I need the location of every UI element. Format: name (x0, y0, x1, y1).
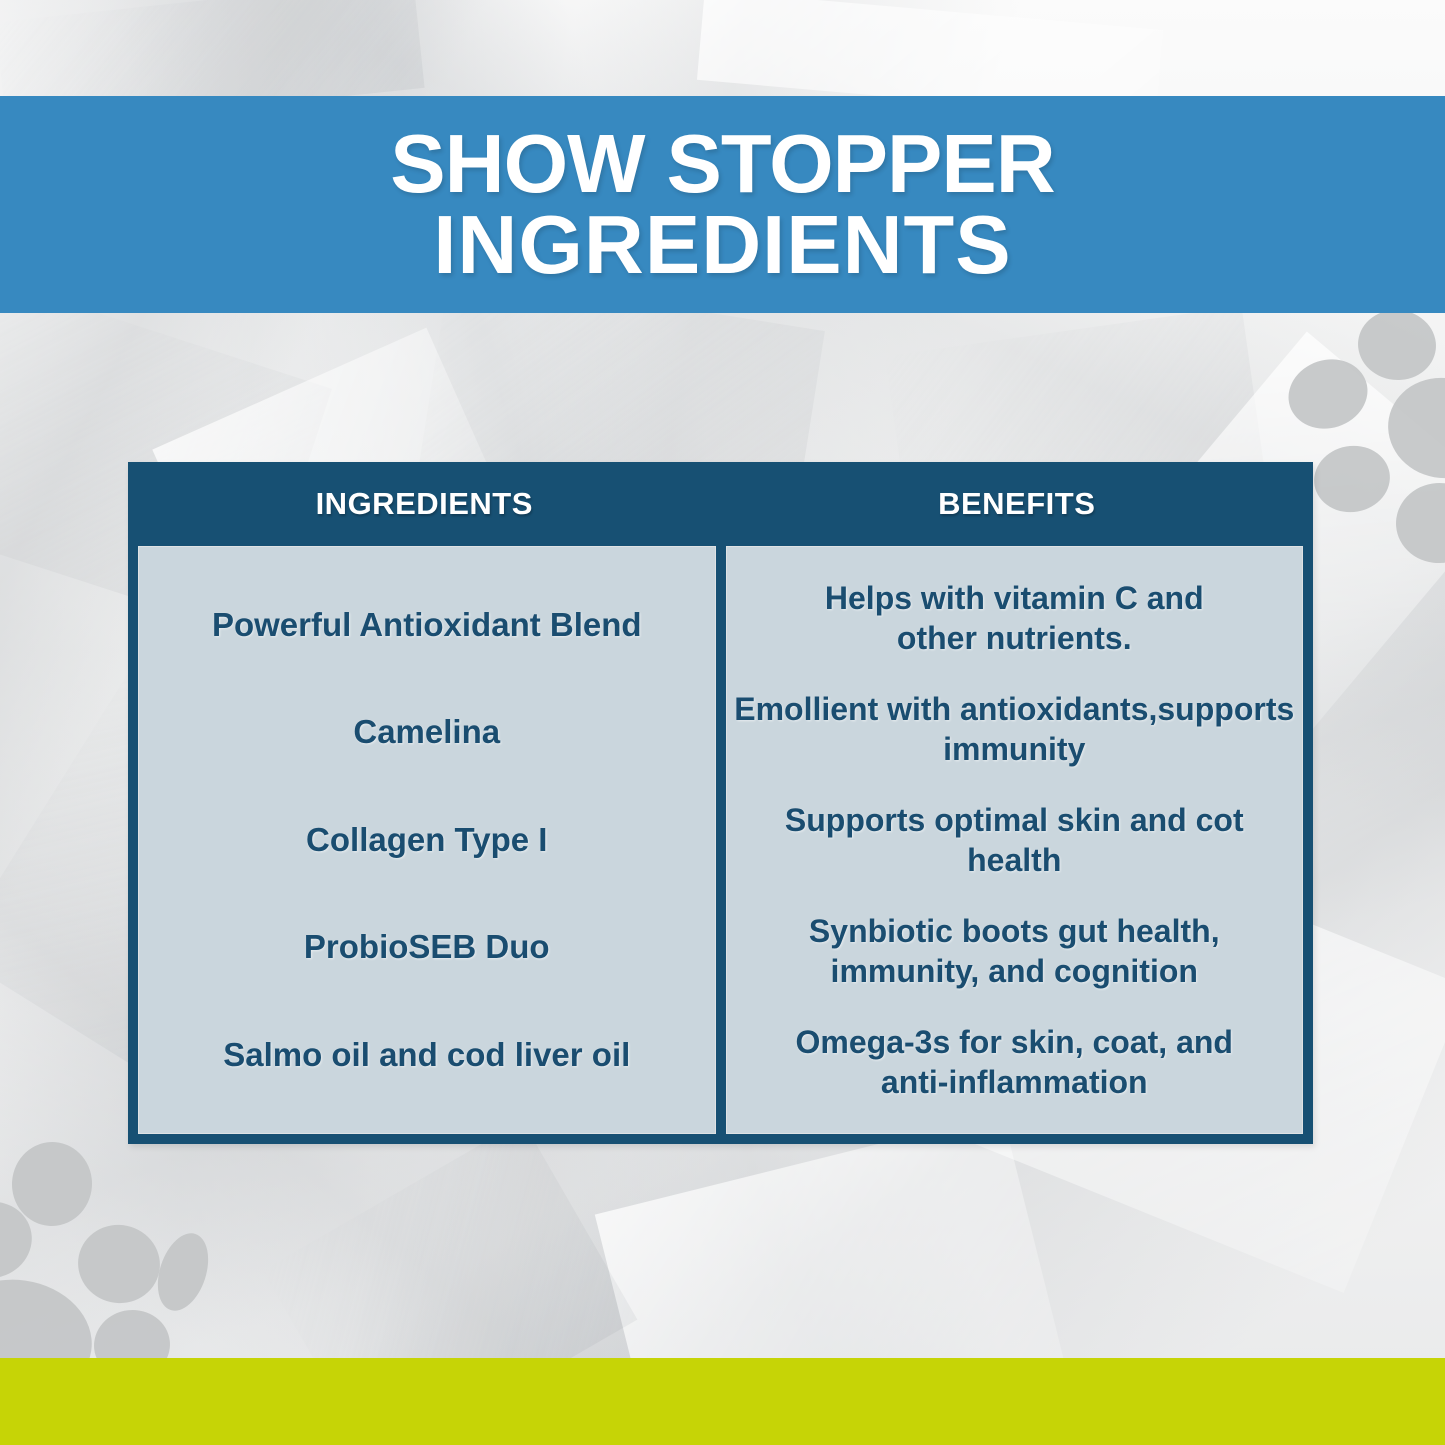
table-row: Helps with vitamin C and other nutrients… (727, 578, 1303, 658)
table-row: Collagen Type I (139, 822, 715, 858)
table-row: Emollient with antioxidants,supports imm… (713, 689, 1317, 769)
table-row: Camelina (139, 714, 715, 750)
table-row: ProbioSEB Duo (139, 929, 715, 965)
paw-toe-pad (71, 1217, 167, 1310)
footer-accent-band (0, 1358, 1445, 1445)
title-banner: SHOW STOPPER INGREDIENTS (0, 96, 1445, 313)
infographic-canvas: SHOW STOPPER INGREDIENTS INGREDIENTS BEN… (0, 0, 1445, 1445)
table-header-row: INGREDIENTS BENEFITS (128, 462, 1313, 546)
paw-print-icon (0, 1150, 220, 1380)
paw-toe-pad (1309, 440, 1395, 518)
table-row: Synbiotic boots gut health, immunity, an… (727, 911, 1303, 991)
ingredients-column: Powerful Antioxidant Blend Camelina Coll… (138, 546, 716, 1134)
page-title-line-2: INGREDIENTS (390, 205, 1054, 286)
table-row: Powerful Antioxidant Blend (139, 607, 715, 643)
paw-toe-pad (149, 1227, 217, 1317)
table-body: Powerful Antioxidant Blend Camelina Coll… (128, 546, 1313, 1144)
column-header-ingredients: INGREDIENTS (128, 462, 721, 546)
table-row: Omega-3s for skin, coat, and anti-inflam… (727, 1022, 1303, 1102)
paw-toe-pad (1279, 349, 1376, 438)
column-header-benefits: BENEFITS (721, 462, 1314, 546)
ingredients-benefits-table: INGREDIENTS BENEFITS Powerful Antioxidan… (128, 462, 1313, 1144)
paw-main-pad (1380, 369, 1445, 487)
paw-print-icon (1290, 318, 1445, 548)
paw-toe-pad (1355, 306, 1440, 384)
table-row: Supports optimal skin and cot health (727, 800, 1303, 880)
page-title: SHOW STOPPER INGREDIENTS (350, 124, 1094, 285)
page-title-line-1: SHOW STOPPER (390, 124, 1054, 205)
table-row: Salmo oil and cod liver oil (139, 1037, 715, 1073)
benefits-column: Helps with vitamin C and other nutrients… (726, 546, 1304, 1134)
